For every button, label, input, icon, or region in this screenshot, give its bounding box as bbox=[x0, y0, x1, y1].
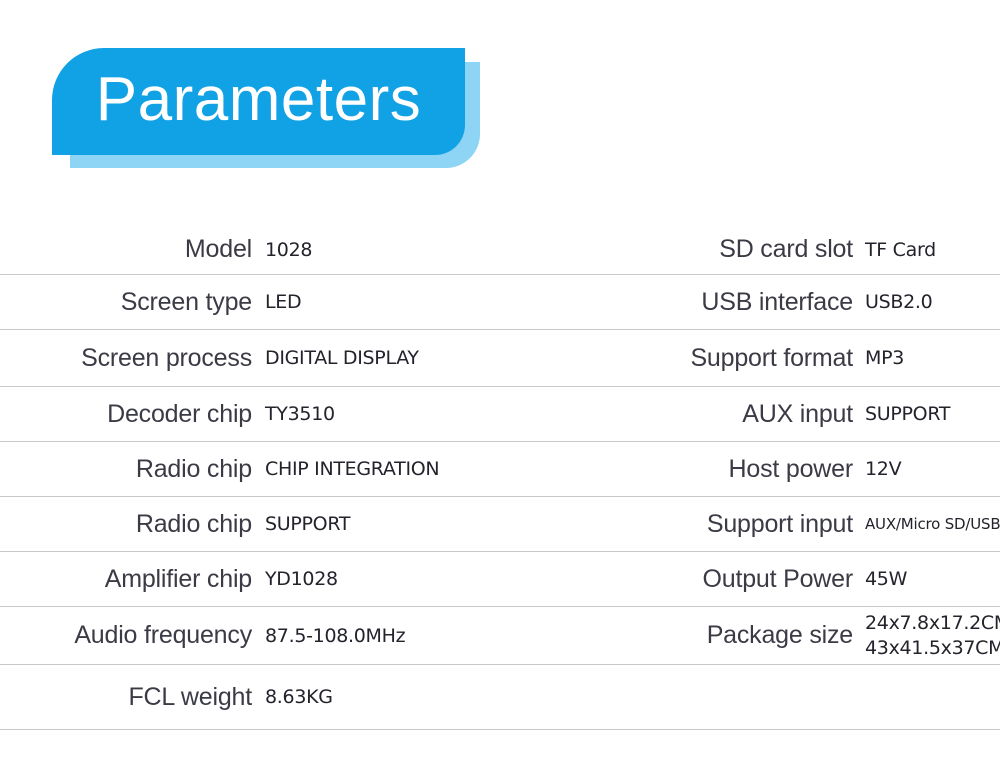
spec-label: Decoder chip bbox=[0, 387, 252, 441]
table-row: Screen process DIGITAL DISPLAY Support f… bbox=[0, 330, 1000, 387]
spec-pair-model: Model 1028 bbox=[0, 225, 500, 274]
specification-table: Model 1028 SD card slot TF Card Screen t… bbox=[0, 225, 1000, 730]
spec-value: 12V bbox=[865, 442, 901, 496]
spec-pair-aux-input: AUX input SUPPORT bbox=[500, 387, 1000, 441]
table-row: Radio chip SUPPORT Support input AUX/Mic… bbox=[0, 497, 1000, 552]
spec-value-line-2: 43x41.5x37CM (Cartoonbox) bbox=[865, 636, 1000, 660]
spec-pair-package-size: Package size 24x7.8x17.2CM (giftbox) 43x… bbox=[500, 607, 1000, 664]
spec-value-multiline: 24x7.8x17.2CM (giftbox) 43x41.5x37CM (Ca… bbox=[865, 607, 1000, 664]
spec-pair-screen-type: Screen type LED bbox=[0, 275, 500, 329]
spec-label: Amplifier chip bbox=[0, 552, 252, 606]
table-row: Model 1028 SD card slot TF Card bbox=[0, 225, 1000, 275]
spec-label: Host power bbox=[640, 442, 853, 496]
spec-value: 87.5-108.0MHz bbox=[265, 607, 405, 664]
spec-label: Radio chip bbox=[0, 497, 252, 551]
spec-pair-decoder-chip: Decoder chip TY3510 bbox=[0, 387, 500, 441]
table-row: Audio frequency 87.5-108.0MHz Package si… bbox=[0, 607, 1000, 665]
spec-pair-support-input: Support input AUX/Micro SD/USB/Bluetooth bbox=[500, 497, 1000, 551]
table-row: FCL weight 8.63KG bbox=[0, 665, 1000, 730]
spec-pair-output-power: Output Power 45W bbox=[500, 552, 1000, 606]
spec-label: SD card slot bbox=[640, 225, 853, 274]
table-row: Amplifier chip YD1028 Output Power 45W bbox=[0, 552, 1000, 607]
spec-label: Radio chip bbox=[0, 442, 252, 496]
spec-value: 45W bbox=[865, 552, 907, 606]
spec-value: TF Card bbox=[865, 225, 936, 274]
spec-value: TY3510 bbox=[265, 387, 335, 441]
spec-pair-radio-chip-support: Radio chip SUPPORT bbox=[0, 497, 500, 551]
spec-label: Package size bbox=[640, 607, 853, 664]
spec-value: USB2.0 bbox=[865, 275, 932, 329]
spec-pair-host-power: Host power 12V bbox=[500, 442, 1000, 496]
spec-label: Output Power bbox=[640, 552, 853, 606]
spec-pair-empty bbox=[500, 665, 1000, 729]
spec-pair-fcl-weight: FCL weight 8.63KG bbox=[0, 665, 500, 729]
spec-pair-sd-card-slot: SD card slot TF Card bbox=[500, 225, 1000, 274]
spec-label: Support input bbox=[640, 497, 853, 551]
spec-value: DIGITAL DISPLAY bbox=[265, 330, 419, 386]
spec-value-line-1: 24x7.8x17.2CM (giftbox) bbox=[865, 611, 1000, 635]
spec-value: YD1028 bbox=[265, 552, 338, 606]
spec-pair-audio-frequency: Audio frequency 87.5-108.0MHz bbox=[0, 607, 500, 664]
spec-pair-usb-interface: USB interface USB2.0 bbox=[500, 275, 1000, 329]
spec-value: CHIP INTEGRATION bbox=[265, 442, 439, 496]
table-row: Screen type LED USB interface USB2.0 bbox=[0, 275, 1000, 330]
spec-value: MP3 bbox=[865, 330, 904, 386]
banner-main-shape: Parameters bbox=[52, 48, 465, 155]
spec-label: FCL weight bbox=[0, 665, 252, 729]
table-row: Radio chip CHIP INTEGRATION Host power 1… bbox=[0, 442, 1000, 497]
table-row: Decoder chip TY3510 AUX input SUPPORT bbox=[0, 387, 1000, 442]
spec-pair-support-format: Support format MP3 bbox=[500, 330, 1000, 386]
spec-pair-screen-process: Screen process DIGITAL DISPLAY bbox=[0, 330, 500, 386]
spec-value: 1028 bbox=[265, 225, 312, 274]
spec-value: SUPPORT bbox=[865, 387, 950, 441]
spec-pair-amplifier-chip: Amplifier chip YD1028 bbox=[0, 552, 500, 606]
spec-label: Screen process bbox=[0, 330, 252, 386]
spec-value: SUPPORT bbox=[265, 497, 350, 551]
spec-label: Audio frequency bbox=[0, 607, 252, 664]
spec-label: AUX input bbox=[640, 387, 853, 441]
page-title: Parameters bbox=[52, 48, 465, 155]
spec-pair-radio-chip: Radio chip CHIP INTEGRATION bbox=[0, 442, 500, 496]
spec-value: 8.63KG bbox=[265, 665, 333, 729]
spec-label: Screen type bbox=[0, 275, 252, 329]
spec-label: Model bbox=[0, 225, 252, 274]
parameters-banner: Parameters bbox=[0, 0, 1000, 200]
spec-value: LED bbox=[265, 275, 301, 329]
spec-value: AUX/Micro SD/USB/Bluetooth bbox=[865, 497, 1000, 551]
spec-label: USB interface bbox=[640, 275, 853, 329]
spec-label: Support format bbox=[640, 330, 853, 386]
